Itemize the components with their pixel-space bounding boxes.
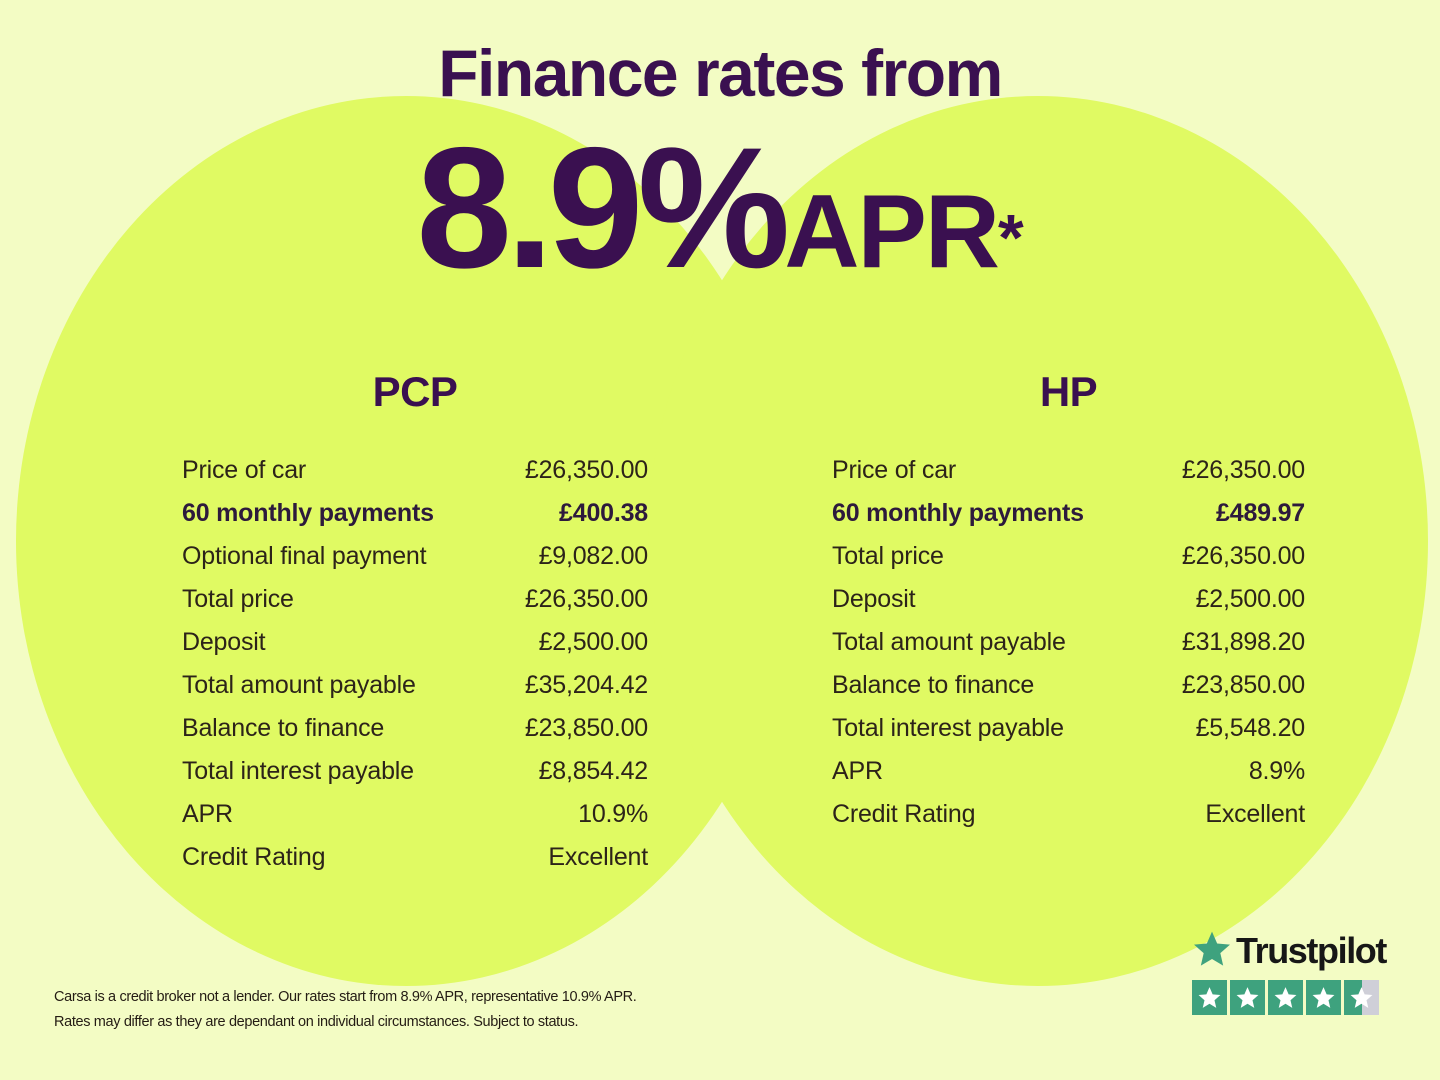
finance-row: APR10.9%: [182, 800, 648, 843]
finance-row: Deposit£2,500.00: [182, 628, 648, 671]
finance-row-label: Deposit: [182, 628, 265, 657]
finance-row: Optional final payment£9,082.00: [182, 542, 648, 585]
star-icon: [1306, 980, 1341, 1015]
finance-row: Total interest payable£8,854.42: [182, 757, 648, 800]
finance-row: Credit RatingExcellent: [182, 843, 648, 886]
finance-row: APR8.9%: [832, 757, 1305, 800]
finance-row-value: £5,548.20: [1196, 714, 1305, 743]
finance-row: Balance to finance£23,850.00: [182, 714, 648, 757]
headline-block: Finance rates from 8.9%APR*: [0, 0, 1440, 294]
finance-row-label: Price of car: [832, 456, 956, 485]
finance-rows-pcp: Price of car£26,350.0060 monthly payment…: [182, 456, 648, 886]
star-icon: [1192, 980, 1227, 1015]
finance-row-label: Total interest payable: [832, 714, 1064, 743]
finance-row: Price of car£26,350.00: [832, 456, 1305, 499]
finance-row: Total amount payable£35,204.42: [182, 671, 648, 714]
finance-row: Balance to finance£23,850.00: [832, 671, 1305, 714]
finance-row-label: 60 monthly payments: [832, 499, 1084, 528]
finance-row-value: £9,082.00: [539, 542, 648, 571]
finance-row-label: Optional final payment: [182, 542, 426, 571]
rate-headline: 8.9%APR*: [0, 106, 1440, 294]
finance-row-label: 60 monthly payments: [182, 499, 434, 528]
finance-row-label: APR: [832, 757, 883, 786]
finance-row-value: £26,350.00: [1182, 542, 1305, 571]
finance-row-value: £35,204.42: [525, 671, 648, 700]
finance-row-value: £26,350.00: [525, 585, 648, 614]
trustpilot-name: Trustpilot: [1236, 930, 1386, 972]
apr-label: APR: [784, 174, 998, 290]
finance-row-label: Deposit: [832, 585, 915, 614]
finance-row: Total amount payable£31,898.20: [832, 628, 1305, 671]
finance-row: Total interest payable£5,548.20: [832, 714, 1305, 757]
finance-row: 60 monthly payments£400.38: [182, 499, 648, 542]
finance-row: Deposit£2,500.00: [832, 585, 1305, 628]
finance-row: 60 monthly payments£489.97: [832, 499, 1305, 542]
page-title: Finance rates from: [0, 0, 1440, 106]
finance-row-value: 10.9%: [578, 800, 648, 829]
finance-row-label: Balance to finance: [182, 714, 384, 743]
star-icon: [1344, 980, 1379, 1015]
finance-rows-hp: Price of car£26,350.0060 monthly payment…: [832, 456, 1305, 843]
finance-row-label: Balance to finance: [832, 671, 1034, 700]
asterisk-marker: *: [998, 201, 1024, 275]
finance-row-value: £2,500.00: [539, 628, 648, 657]
finance-row-value: Excellent: [1205, 800, 1305, 829]
finance-row-value: £400.38: [559, 499, 648, 528]
finance-row: Total price£26,350.00: [182, 585, 648, 628]
finance-row: Price of car£26,350.00: [182, 456, 648, 499]
column-title-hp: HP: [832, 368, 1305, 416]
finance-row-value: £2,500.00: [1196, 585, 1305, 614]
finance-row-label: Total price: [832, 542, 944, 571]
finance-row-value: £26,350.00: [525, 456, 648, 485]
poster-canvas: Finance rates from 8.9%APR* PCP Price of…: [0, 0, 1440, 1080]
finance-row-label: APR: [182, 800, 233, 829]
disclaimer-line-2: Rates may differ as they are dependant o…: [54, 1010, 784, 1035]
finance-row-label: Total interest payable: [182, 757, 414, 786]
finance-row-label: Total amount payable: [182, 671, 416, 700]
finance-row: Credit RatingExcellent: [832, 800, 1305, 843]
finance-row-value: £26,350.00: [1182, 456, 1305, 485]
trustpilot-star-icon: [1192, 929, 1232, 974]
finance-row-value: Excellent: [548, 843, 648, 872]
trustpilot-wordmark: Trustpilot: [1192, 928, 1392, 974]
finance-row-label: Credit Rating: [182, 843, 325, 872]
finance-row-value: £8,854.42: [539, 757, 648, 786]
finance-row-label: Total amount payable: [832, 628, 1066, 657]
finance-row-label: Credit Rating: [832, 800, 975, 829]
apr-rate-value: 8.9%: [416, 112, 784, 304]
trustpilot-rating-stars: [1192, 980, 1392, 1015]
star-icon: [1230, 980, 1265, 1015]
finance-column-hp: HP Price of car£26,350.0060 monthly paym…: [720, 368, 1440, 886]
finance-row-value: £31,898.20: [1182, 628, 1305, 657]
trustpilot-badge[interactable]: Trustpilot: [1192, 928, 1392, 1015]
finance-row-value: £23,850.00: [525, 714, 648, 743]
legal-disclaimer: Carsa is a credit broker not a lender. O…: [54, 985, 784, 1036]
finance-row-value: £489.97: [1216, 499, 1305, 528]
finance-row: Total price£26,350.00: [832, 542, 1305, 585]
finance-row-value: £23,850.00: [1182, 671, 1305, 700]
finance-comparison: PCP Price of car£26,350.0060 monthly pay…: [0, 368, 1440, 886]
star-icon: [1268, 980, 1303, 1015]
finance-column-pcp: PCP Price of car£26,350.0060 monthly pay…: [0, 368, 720, 886]
finance-row-value: 8.9%: [1249, 757, 1305, 786]
disclaimer-line-1: Carsa is a credit broker not a lender. O…: [54, 985, 784, 1010]
finance-row-label: Price of car: [182, 456, 306, 485]
column-title-pcp: PCP: [182, 368, 648, 416]
finance-row-label: Total price: [182, 585, 294, 614]
